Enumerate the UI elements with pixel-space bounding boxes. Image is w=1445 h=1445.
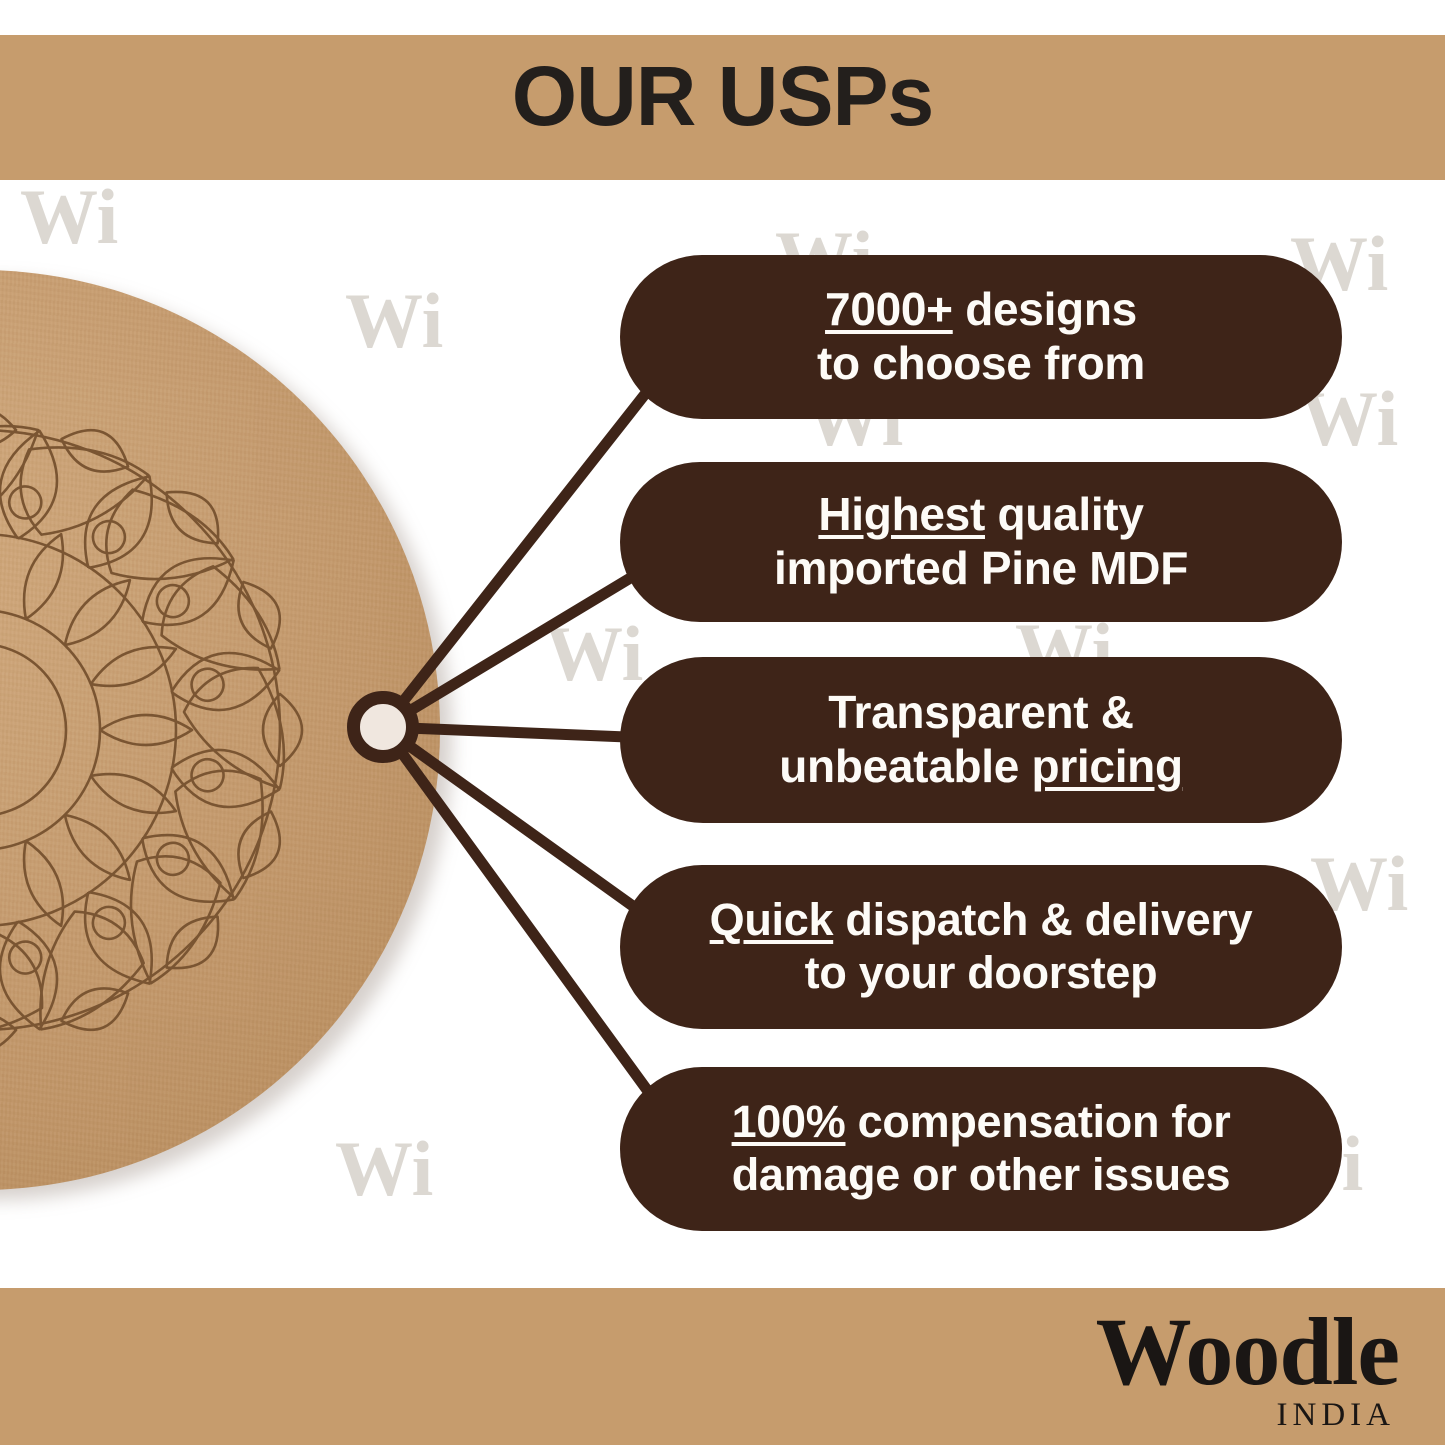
page-title: OUR USPs — [0, 48, 1445, 145]
usp-rest: quality — [985, 488, 1144, 540]
usp-highlight: Quick — [710, 894, 834, 945]
usp-pill-compensation[interactable]: 100% compensation for damage or other is… — [620, 1067, 1342, 1231]
usp-line-2: imported Pine MDF — [774, 542, 1188, 596]
usp-highlight: 100% — [732, 1096, 846, 1147]
usp-line-2: unbeatable pricing — [779, 740, 1183, 794]
brand-name: Woodle — [1096, 1305, 1399, 1399]
usp-highlight: Highest — [818, 488, 985, 540]
usp-pill-designs[interactable]: 7000+ designs to choose from — [620, 255, 1342, 419]
usp-line-2: damage or other issues — [732, 1149, 1231, 1202]
usp-rest: designs — [953, 283, 1137, 335]
usp-line-1: 7000+ designs — [825, 283, 1137, 337]
usp-line-2: to choose from — [817, 337, 1145, 391]
usp-line-1: Transparent & — [828, 686, 1133, 740]
usp-line-1: 100% compensation for — [732, 1096, 1231, 1149]
usp-highlight: pricing — [1032, 740, 1183, 792]
usp-highlight: 7000+ — [825, 283, 953, 335]
usp-line-1: Highest quality — [818, 488, 1143, 542]
hub-node — [347, 691, 419, 763]
usp-line-1: Quick dispatch & delivery — [710, 894, 1253, 947]
usp-rest: dispatch & delivery — [833, 894, 1252, 945]
usp-pill-quality[interactable]: Highest quality imported Pine MDF — [620, 462, 1342, 622]
brand-lockup: Woodle INDIA — [1096, 1305, 1399, 1434]
usp-prefix: unbeatable — [779, 740, 1031, 792]
usp-line-2: to your doorstep — [805, 947, 1158, 1000]
usp-pill-dispatch[interactable]: Quick dispatch & delivery to your doorst… — [620, 865, 1342, 1029]
usp-pill-pricing[interactable]: Transparent & unbeatable pricing — [620, 657, 1342, 823]
usp-rest: compensation for — [845, 1096, 1230, 1147]
infographic-canvas: Wi Wi Wi Wi Wi Wi Wi Wi Wi Wi Wi — [0, 0, 1445, 1445]
